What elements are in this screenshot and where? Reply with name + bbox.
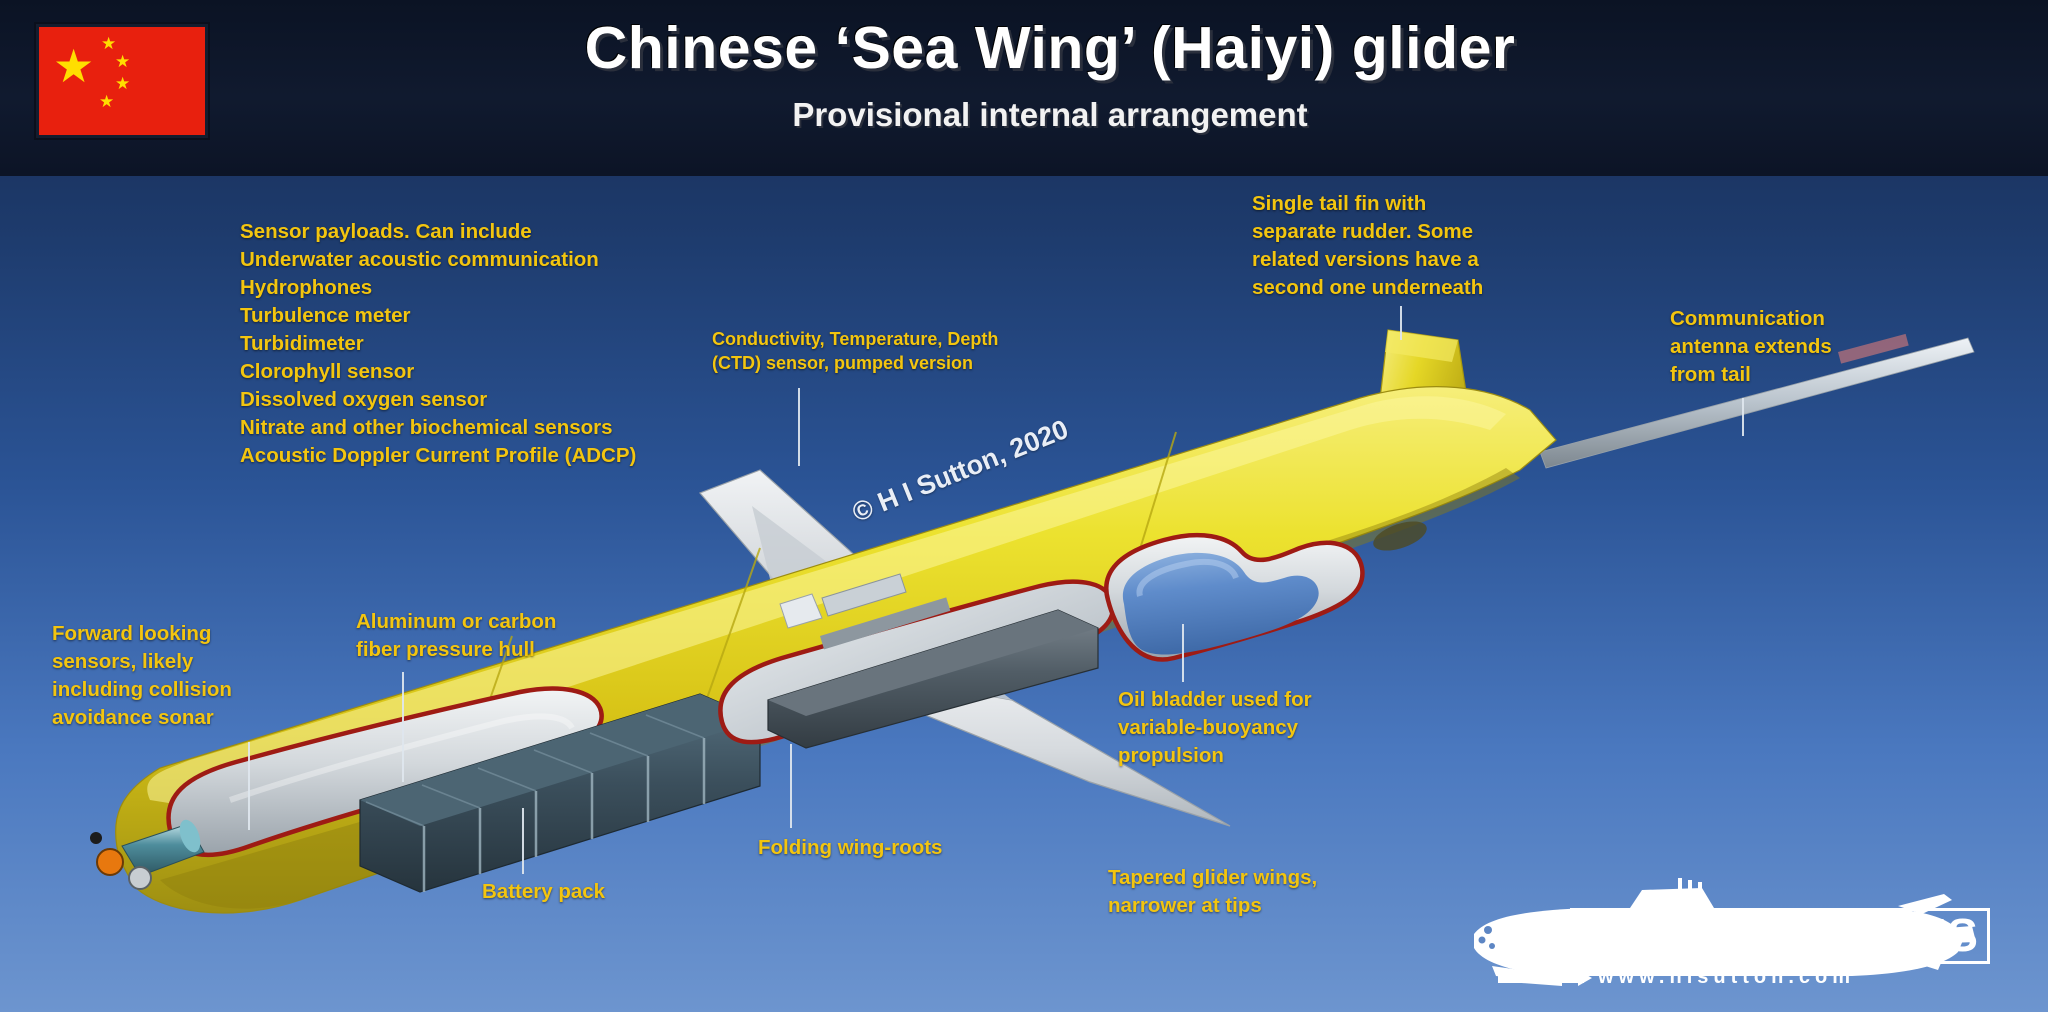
logo-wordmark: COVERTSHORES	[1570, 908, 1990, 964]
oil-bladder-cutaway	[1106, 535, 1362, 659]
diagram-canvas: ★ ★ ★ ★ ★ Chinese ‘Sea Wing’ (Haiyi) gli…	[0, 0, 2048, 1012]
leader-line-oil-bladder	[1182, 624, 1184, 682]
flag-star-2: ★	[115, 53, 130, 70]
page-title: Chinese ‘Sea Wing’ (Haiyi) glider	[200, 14, 1900, 82]
leader-line-ctd	[798, 388, 800, 466]
annotation-comm-antenna: Communication antenna extends from tail	[1670, 305, 1832, 389]
flag-star-1: ★	[101, 35, 116, 52]
annotation-pressure-hull: Aluminum or carbon fiber pressure hull	[356, 608, 556, 664]
leader-line-antenna	[1742, 398, 1744, 436]
leader-line-wing-roots	[790, 744, 792, 828]
annotation-oil-bladder: Oil bladder used for variable-buoyancy p…	[1118, 686, 1312, 770]
leader-line-pressure-hull	[402, 672, 404, 782]
leader-line-battery-pack	[522, 808, 524, 874]
page-subtitle: Provisional internal arrangement	[200, 96, 1900, 134]
covertshores-logo[interactable]: COVERTSHORES www.hisutton.com	[1452, 878, 2032, 1000]
logo-url: www.hisutton.com	[1598, 966, 1855, 989]
annotation-forward-sensors: Forward looking sensors, likely includin…	[52, 620, 232, 732]
leader-line-forward-sensors	[248, 742, 250, 830]
flag-field: ★ ★ ★ ★ ★	[39, 27, 205, 135]
annotation-tapered-wings: Tapered glider wings, narrower at tips	[1108, 864, 1317, 920]
header-bar: ★ ★ ★ ★ ★ Chinese ‘Sea Wing’ (Haiyi) gli…	[0, 0, 2048, 176]
leader-line-tail-fin	[1400, 306, 1402, 340]
flag-star-large: ★	[53, 43, 94, 89]
flag-star-4: ★	[99, 93, 114, 110]
flag-of-china-icon: ★ ★ ★ ★ ★	[34, 22, 210, 140]
annotation-battery-pack: Battery pack	[482, 878, 605, 906]
annotation-ctd-sensor: Conductivity, Temperature, Depth (CTD) s…	[712, 327, 998, 375]
flag-star-3: ★	[115, 75, 130, 92]
annotation-folding-wing-roots: Folding wing-roots	[758, 834, 942, 862]
annotation-sensor-payloads: Sensor payloads. Can include Underwater …	[240, 218, 636, 470]
annotation-tail-fin: Single tail fin with separate rudder. So…	[1252, 190, 1483, 302]
